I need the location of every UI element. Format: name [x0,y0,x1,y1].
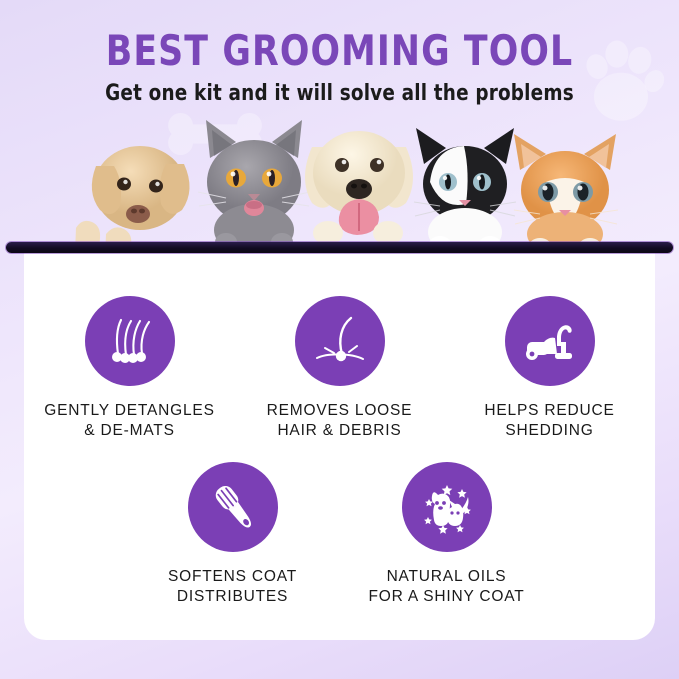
feature-label: HELPS REDUCE SHEDDING [484,401,614,442]
pet-photo-band [0,112,679,252]
hair-follicles-icon [101,312,159,370]
features-row-2: SOFTENS COAT DISTRIBUTES [24,442,655,608]
loose-hair-icon [311,312,369,370]
pet-tan-puppy [72,110,202,252]
features-section: GENTLY DETANGLES & DE-MATS REMOVES LOOSE… [24,252,655,640]
feature-label: SOFTENS COAT DISTRIBUTES [168,567,297,608]
feature-natural-oils: NATURAL OILS FOR A SHINY COAT [340,462,554,608]
feature-icon-circle [85,296,175,386]
feature-icon-circle [402,462,492,552]
feature-label: GENTLY DETANGLES & DE-MATS [44,401,214,442]
features-row-1: GENTLY DETANGLES & DE-MATS REMOVES LOOSE… [24,252,655,442]
pet-orange-kitten [506,124,626,252]
feature-label: REMOVES LOOSE HAIR & DEBRIS [267,401,413,442]
feature-gently-detangles: GENTLY DETANGLES & DE-MATS [25,296,235,442]
feature-icon-circle [505,296,595,386]
pet-tuxedo-kitten [412,120,518,252]
feature-icon-circle [188,462,278,552]
pet-golden-retriever [292,107,426,252]
page-title: BEST GROOMING TOOL [27,0,652,72]
feature-removes-loose-hair: REMOVES LOOSE HAIR & DEBRIS [235,296,445,442]
feature-label: NATURAL OILS FOR A SHINY COAT [368,567,524,608]
grooming-brush-icon [204,478,262,536]
dog-cat-stars-icon [417,477,477,537]
page-subtitle: Get one kit and it will solve all the pr… [24,72,655,105]
feature-helps-reduce-shedding: HELPS REDUCE SHEDDING [445,296,655,442]
header: BEST GROOMING TOOL Get one kit and it wi… [0,0,679,105]
feature-softens-coat: SOFTENS COAT DISTRIBUTES [126,462,340,608]
vacuum-cleaner-icon [521,312,579,370]
feature-icon-circle [295,296,385,386]
